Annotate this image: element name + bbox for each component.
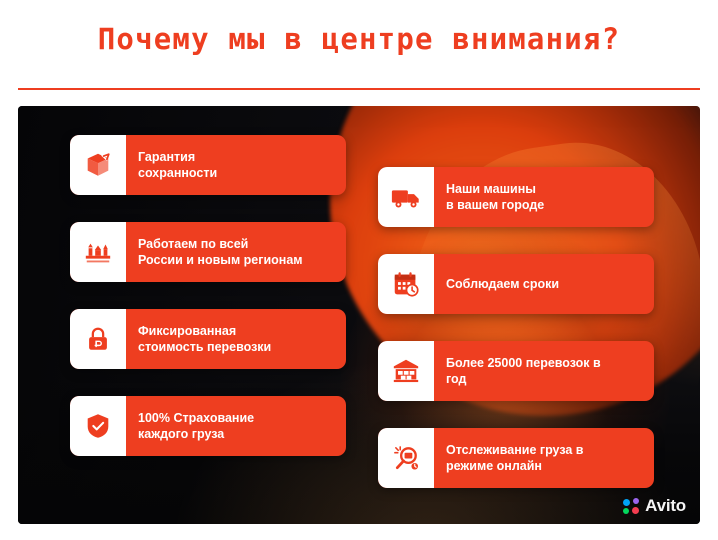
- feature-card[interactable]: Гарантия сохранности: [70, 135, 346, 195]
- truck-icon: [390, 181, 422, 213]
- tracking-search-icon: [391, 443, 422, 474]
- page-title-wrap: Почему мы в центре внимания?: [0, 22, 718, 56]
- icon-container: [378, 341, 434, 401]
- feature-card-label: Соблюдаем сроки: [434, 254, 654, 314]
- feature-card[interactable]: Соблюдаем сроки: [378, 254, 654, 314]
- feature-card[interactable]: 100% Страхование каждого груза: [70, 396, 346, 456]
- shield-check-icon: [83, 411, 113, 441]
- icon-container: [378, 428, 434, 488]
- avito-watermark: Avito: [623, 496, 686, 516]
- feature-card-label: Отслеживание груза в режиме онлайн: [434, 428, 654, 488]
- feature-card-label: Работаем по всей России и новым регионам: [126, 222, 346, 282]
- feature-card[interactable]: Отслеживание груза в режиме онлайн: [378, 428, 654, 488]
- feature-card[interactable]: Наши машины в вашем городе: [378, 167, 654, 227]
- feature-card-label: Более 25000 перевозок в год: [434, 341, 654, 401]
- feature-card-label: Фиксированная стоимость перевозки: [126, 309, 346, 369]
- feature-card[interactable]: Фиксированная стоимость перевозки: [70, 309, 346, 369]
- slide: Почему мы в центре внимания?: [0, 0, 718, 540]
- icon-container: [70, 309, 126, 369]
- page-title: Почему мы в центре внимания?: [0, 22, 718, 56]
- calendar-clock-icon: [391, 269, 421, 299]
- title-divider: [18, 88, 700, 90]
- feature-card[interactable]: Работаем по всей России и новым регионам: [70, 222, 346, 282]
- feature-card[interactable]: Более 25000 перевозок в год: [378, 341, 654, 401]
- icon-container: [70, 222, 126, 282]
- lock-ruble-icon: [83, 324, 113, 354]
- avito-logo-icon: [623, 498, 640, 515]
- feature-card-label: Наши машины в вашем городе: [434, 167, 654, 227]
- icon-container: [378, 254, 434, 314]
- feature-card-label: Гарантия сохранности: [126, 135, 346, 195]
- package-check-icon: [83, 150, 113, 180]
- warehouse-boxes-icon: [391, 356, 421, 386]
- icon-container: [378, 167, 434, 227]
- content-panel: Гарантия сохранности: [18, 106, 700, 524]
- avito-watermark-label: Avito: [645, 496, 686, 516]
- kremlin-map-icon: [83, 237, 113, 267]
- icon-container: [70, 135, 126, 195]
- icon-container: [70, 396, 126, 456]
- feature-card-label: 100% Страхование каждого груза: [126, 396, 346, 456]
